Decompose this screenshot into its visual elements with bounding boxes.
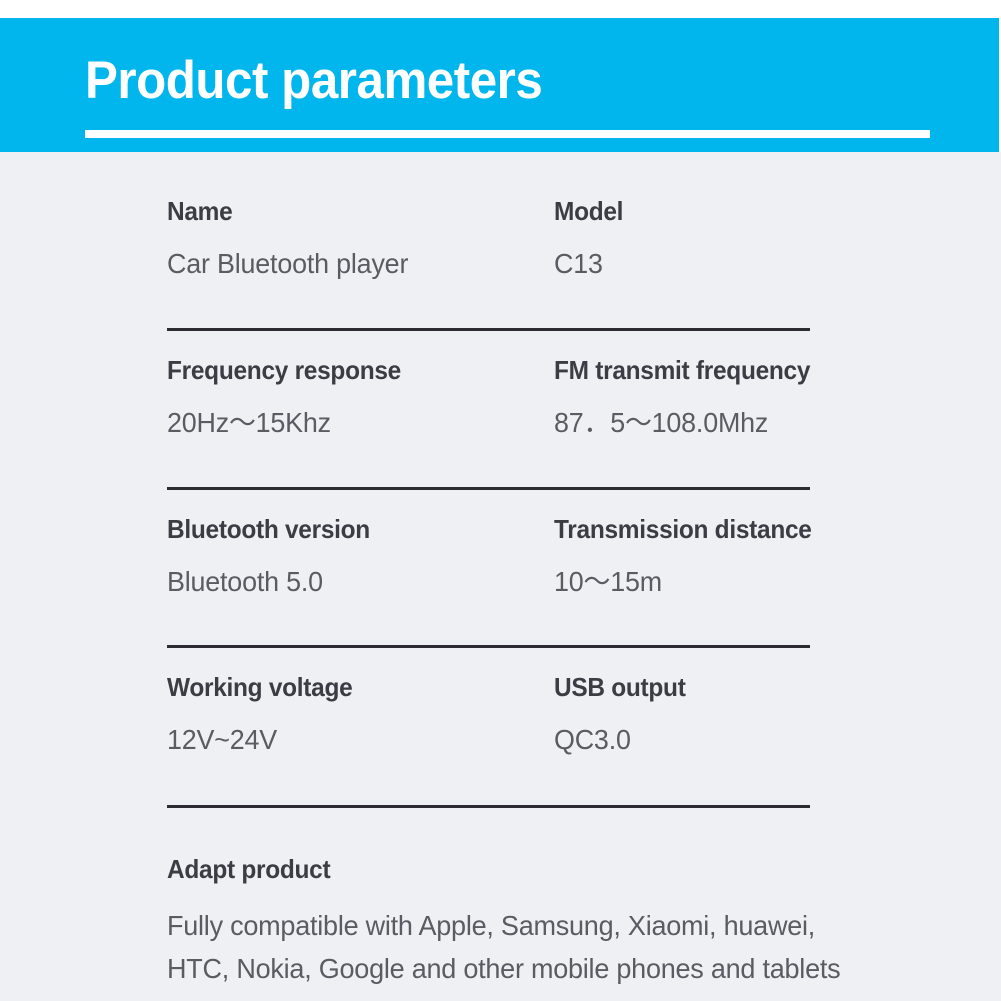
adapt-product-description: Fully compatible with Apple, Samsung, Xi… <box>167 904 823 990</box>
row-divider <box>167 328 810 331</box>
spec-cell-left: Frequency response 20Hz〜15Khz <box>167 353 416 441</box>
spec-label: Bluetooth version <box>167 512 370 546</box>
header-banner: Product parameters <box>0 18 999 152</box>
spec-label: Transmission distance <box>554 512 812 546</box>
spec-cell-left: Name Car Bluetooth player <box>167 194 418 282</box>
spec-cell-right: Transmission distance 10〜15m <box>554 512 828 600</box>
row-divider <box>167 805 810 808</box>
adapt-product-label: Adapt product <box>167 852 330 886</box>
spec-value: Car Bluetooth player <box>167 246 408 282</box>
spec-value: 10〜15m <box>554 564 817 600</box>
row-divider <box>167 487 810 490</box>
spec-label: FM transmit frequency <box>554 353 810 387</box>
spec-value: 20Hz〜15Khz <box>167 405 406 441</box>
spec-cell-left: Working voltage 12V~24V <box>167 670 364 758</box>
spec-value: QC3.0 <box>554 722 688 758</box>
spec-value: Bluetooth 5.0 <box>167 564 374 600</box>
spec-value: 87．5〜108.0Mhz <box>554 405 816 441</box>
spec-sheet: Name Car Bluetooth player Model C13 Freq… <box>0 152 1001 1001</box>
spec-value: 12V~24V <box>167 722 356 758</box>
spec-cell-right: Model C13 <box>554 194 628 282</box>
spec-value: C13 <box>554 246 625 282</box>
spec-cell-right: USB output QC3.0 <box>554 670 694 758</box>
spec-label: USB output <box>554 670 686 704</box>
adapt-description-line: Fully compatible with Apple, Samsung, Xi… <box>167 904 823 947</box>
spec-label: Working voltage <box>167 670 352 704</box>
page-title: Product parameters <box>85 51 542 111</box>
adapt-description-line: HTC, Nokia, Google and other mobile phon… <box>167 947 823 990</box>
spec-cell-right: FM transmit frequency 87．5〜108.0Mhz <box>554 353 827 441</box>
title-underline-rule <box>85 130 930 138</box>
spec-label: Model <box>554 194 623 228</box>
spec-label: Name <box>167 194 403 228</box>
product-parameters-page: Product parameters Name Car Bluetooth pl… <box>0 0 1001 1001</box>
row-divider <box>167 645 810 648</box>
spec-cell-left: Bluetooth version Bluetooth 5.0 <box>167 512 383 600</box>
spec-label: Frequency response <box>167 353 401 387</box>
